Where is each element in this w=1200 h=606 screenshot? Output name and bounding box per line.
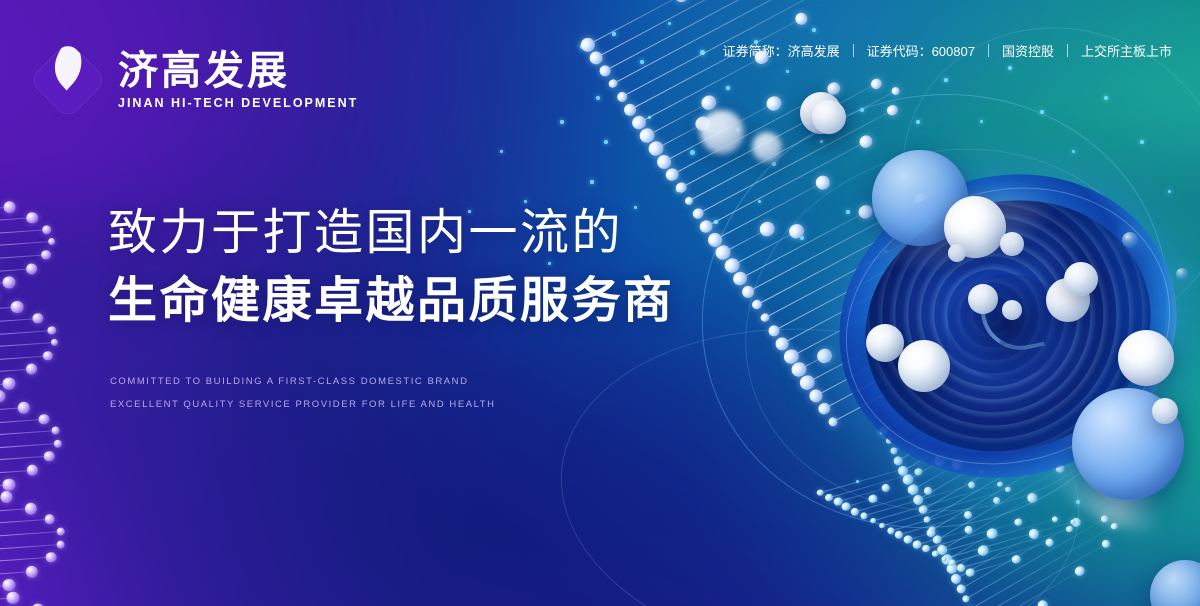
helix-bead [43,350,54,361]
sphere-white-mid-c [1064,262,1098,296]
helix-bead [41,249,51,259]
headline-line-2: 生命健康卓越品质服务商 [108,273,675,331]
sphere-white-tiny-a [1000,232,1024,256]
ownership-type: 国资控股 [989,41,1067,60]
particle-dot [640,60,644,64]
particle-dot [560,120,564,124]
helix-bead [47,325,57,335]
helix-bead [54,439,63,448]
helix-bead [2,276,16,290]
sphere-white-right [1118,330,1174,386]
particle-dot [596,96,600,100]
particle-dot [690,150,695,155]
sphere-blurred-b [752,132,782,162]
helix-bead [2,377,16,391]
headline: 致力于打造国内一流的 生命健康卓越品质服务商 [108,205,675,331]
particle-dot [786,70,789,73]
sphere-white-left-a [866,324,904,362]
headline-line-1: 致力于打造国内一流的 [108,205,675,263]
particle-dot [726,86,730,90]
helix-bead [26,464,39,477]
stock-info-bar: 证券简称：济高发展 证券代码：600807 国资控股 上交所主板上市 [710,41,1185,60]
sphere-white-accent [812,100,846,134]
stock-abbreviation: 证券简称：济高发展 [710,41,853,60]
particle-dot [500,150,503,153]
helix-bead [51,338,59,346]
sphere-blurred-a [700,110,744,154]
particle-dot [612,32,616,36]
helix-bead [2,478,16,492]
brand-logo[interactable]: 济高发展 JINAN HI-TECH DEVELOPMENT [32,44,358,116]
listing-board: 上交所主板上市 [1068,41,1185,60]
sphere-white-mid-a [968,284,998,314]
hero-banner: 济高发展 JINAN HI-TECH DEVELOPMENT 证券简称：济高发展… [0,0,1200,606]
brand-name-cn: 济高发展 [118,50,358,92]
subtitle-line-1: COMMITTED TO BUILDING A FIRST-CLASS DOME… [110,370,496,393]
sphere-glass-a [1122,232,1138,248]
stock-code: 证券代码：600807 [854,41,988,60]
helix-bead [38,413,49,424]
subtitle-line-2: EXCELLENT QUALITY SERVICE PROVIDER FOR L… [110,393,496,416]
particle-dot [668,22,671,25]
sphere-white-on-blue [1152,398,1178,424]
particle-dot [590,180,594,184]
jinan-hi-tech-logo-icon [32,44,104,116]
sphere-white-tiny-b [948,244,966,262]
brand-name-en: JINAN HI-TECH DEVELOPMENT [118,96,358,110]
particle-dot [524,200,527,203]
sphere-white-left-b [898,340,950,392]
particle-dot [604,140,608,144]
helix-bead [3,200,16,213]
sphere-white-tiny-c [1002,300,1022,320]
sphere-glass-b [1176,268,1188,280]
subtitle: COMMITTED TO BUILDING A FIRST-CLASS DOME… [110,370,496,417]
particle-dot [812,28,816,32]
brand-logo-text: 济高发展 JINAN HI-TECH DEVELOPMENT [118,50,358,110]
helix-rung [0,497,6,499]
